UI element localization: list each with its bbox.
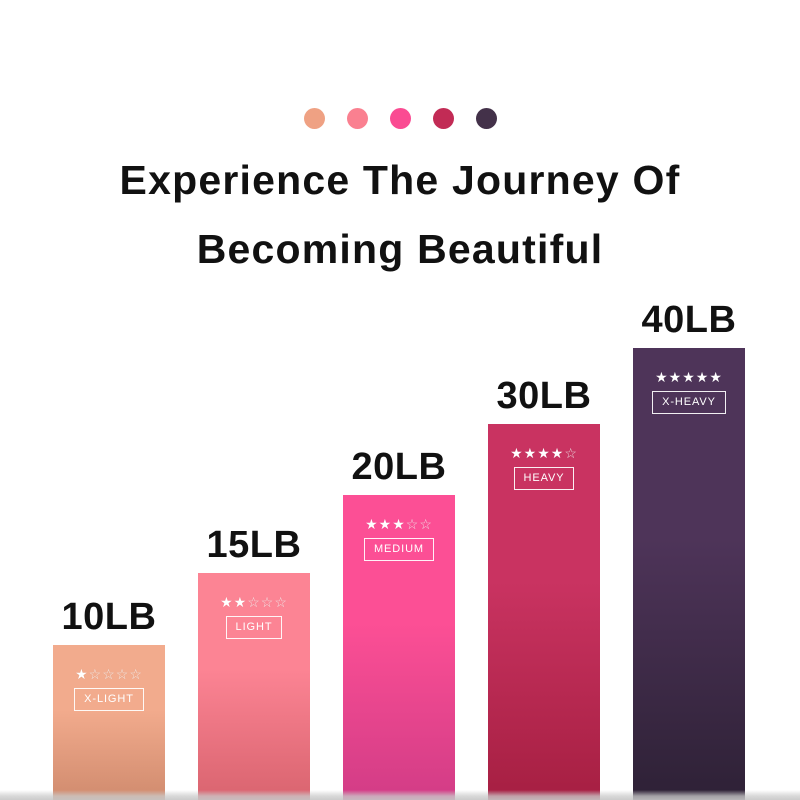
star-filled-icon: ★ [75, 666, 89, 682]
bar-10lb[interactable]: 10LB★☆☆☆☆X-LIGHT [53, 585, 165, 800]
page-title: Experience The Journey Of Becoming Beaut… [0, 146, 800, 284]
headline-line-1: Experience The Journey Of [0, 146, 800, 215]
dot-light-icon [347, 108, 368, 129]
bar-30lb-badge-group: ★★★★☆HEAVY [488, 446, 600, 490]
star-filled-icon: ★ [524, 445, 538, 461]
star-empty-icon: ☆ [247, 594, 261, 610]
bar-30lb[interactable]: 30LB★★★★☆HEAVY [488, 364, 600, 800]
resistance-bar-chart: 10LB★☆☆☆☆X-LIGHT15LB★★☆☆☆LIGHT20LB★★★☆☆M… [0, 280, 800, 800]
star-filled-icon: ★ [551, 445, 565, 461]
bar-15lb-level-badge: LIGHT [226, 616, 283, 639]
star-filled-icon: ★ [392, 516, 406, 532]
bar-40lb-column: ★★★★★X-HEAVY [633, 348, 745, 800]
bar-10lb-badge-group: ★☆☆☆☆X-LIGHT [53, 667, 165, 711]
star-empty-icon: ☆ [116, 666, 130, 682]
bar-15lb-column: ★★☆☆☆LIGHT [198, 573, 310, 800]
star-filled-icon: ★ [655, 369, 669, 385]
star-filled-icon: ★ [379, 516, 393, 532]
star-empty-icon: ☆ [419, 516, 433, 532]
star-filled-icon: ★ [669, 369, 683, 385]
star-filled-icon: ★ [682, 369, 696, 385]
bar-10lb-level-badge: X-LIGHT [74, 688, 144, 711]
bar-40lb-badge-group: ★★★★★X-HEAVY [633, 370, 745, 414]
bar-10lb-value-label: 10LB [62, 595, 157, 639]
star-empty-icon: ☆ [102, 666, 116, 682]
star-filled-icon: ★ [365, 516, 379, 532]
promo-graphic: Experience The Journey Of Becoming Beaut… [0, 0, 800, 800]
bar-20lb-value-label: 20LB [352, 445, 447, 489]
bar-30lb-value-label: 30LB [497, 374, 592, 418]
dot-medium-icon [390, 108, 411, 129]
star-empty-icon: ☆ [274, 594, 288, 610]
dot-x-heavy-icon [476, 108, 497, 129]
bar-20lb-level-badge: MEDIUM [364, 538, 434, 561]
bar-30lb-star-rating: ★★★★☆ [510, 446, 578, 460]
bar-10lb-column: ★☆☆☆☆X-LIGHT [53, 645, 165, 800]
star-filled-icon: ★ [234, 594, 248, 610]
bar-40lb-level-badge: X-HEAVY [652, 391, 726, 414]
headline-line-2: Becoming Beautiful [0, 215, 800, 284]
star-empty-icon: ☆ [406, 516, 420, 532]
dot-heavy-icon [433, 108, 454, 129]
bar-15lb-star-rating: ★★☆☆☆ [220, 595, 288, 609]
star-filled-icon: ★ [537, 445, 551, 461]
star-filled-icon: ★ [220, 594, 234, 610]
star-filled-icon: ★ [709, 369, 723, 385]
bar-20lb[interactable]: 20LB★★★☆☆MEDIUM [343, 435, 455, 800]
bar-40lb[interactable]: 40LB★★★★★X-HEAVY [633, 288, 745, 800]
bar-20lb-star-rating: ★★★☆☆ [365, 517, 433, 531]
bar-30lb-column: ★★★★☆HEAVY [488, 424, 600, 800]
star-empty-icon: ☆ [89, 666, 103, 682]
bar-20lb-badge-group: ★★★☆☆MEDIUM [343, 517, 455, 561]
bar-30lb-level-badge: HEAVY [514, 467, 575, 490]
bar-15lb-value-label: 15LB [207, 523, 302, 567]
star-filled-icon: ★ [696, 369, 710, 385]
bar-15lb-badge-group: ★★☆☆☆LIGHT [198, 595, 310, 639]
star-empty-icon: ☆ [564, 445, 578, 461]
bar-10lb-star-rating: ★☆☆☆☆ [75, 667, 143, 681]
star-empty-icon: ☆ [261, 594, 275, 610]
palette-dot-row [0, 106, 800, 130]
dot-x-light-icon [304, 108, 325, 129]
star-filled-icon: ★ [510, 445, 524, 461]
bar-40lb-value-label: 40LB [642, 298, 737, 342]
bar-15lb[interactable]: 15LB★★☆☆☆LIGHT [198, 513, 310, 800]
bar-20lb-column: ★★★☆☆MEDIUM [343, 495, 455, 800]
bar-40lb-star-rating: ★★★★★ [655, 370, 723, 384]
star-empty-icon: ☆ [129, 666, 143, 682]
